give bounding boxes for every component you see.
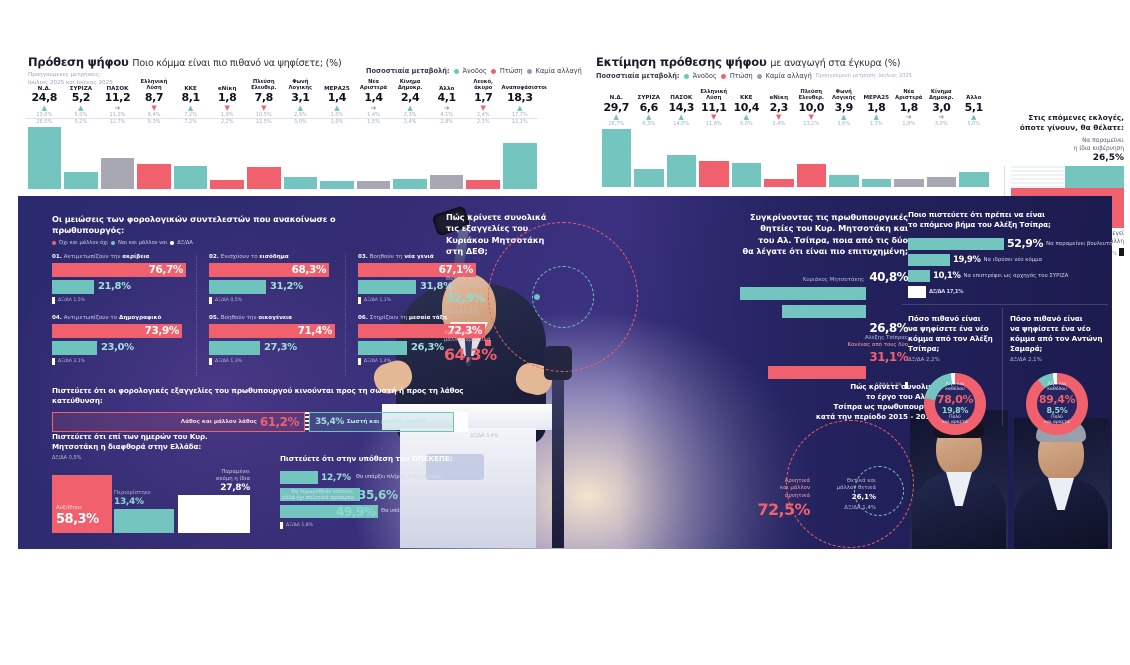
tax-no-value: 71,4%: [298, 325, 332, 337]
bar-column: ΚΚΕ10,4▲9,0%: [730, 129, 763, 187]
prev-value-2: 9,3%: [136, 119, 173, 126]
donut-bottom-value: 8,5%: [1047, 406, 1068, 415]
bar-caption: Νέα Αριστερά1,4➜1,4%1,5%: [355, 80, 392, 127]
next-step-bar: ΔΞ/ΔΑ 17,1%: [908, 286, 926, 298]
next-step-block: Ποιο πιστεύετε ότι πρέπει να είναι το επ…: [908, 210, 1112, 302]
next-step-bar: 52,9%Να παραμείνει βουλευτής: [908, 238, 1004, 250]
tax-no-row: 73,9%: [52, 324, 186, 338]
bar-column: Νέα Αριστερά1,8➜1,8%: [893, 129, 926, 187]
corruption-question-text: Πιστεύετε ότι επί των ημερών του Κυρ. Μη…: [52, 432, 267, 452]
bar-column: eNίκη1,8▼1,9%2,2%: [209, 127, 246, 189]
party-bar: [503, 143, 537, 189]
bar-column: ΣΥΡΙΖΑ6,6▲6,3%: [633, 129, 666, 187]
bar-column: Νέα Αριστερά1,4➜1,4%1,5%: [355, 127, 392, 189]
dk-swatch: [358, 297, 361, 304]
tax-item-title: 01. Αντιμετωπίζουν την ακρίβεια: [52, 254, 186, 260]
compare-block: Συγκρίνοντας τις πρωθυπουργικές θητείες …: [708, 212, 908, 389]
prev-value-2: 2,8%: [428, 119, 465, 126]
bar-column: ΜΕΡΑ251,8▲1,3%: [860, 129, 893, 187]
prev-value-1: 14,0%: [665, 121, 698, 128]
new-party-tsipras-block: Πόσο πιθανό είναι να ψηφίσετε ένα νέο κό…: [908, 314, 1002, 435]
trend-up-icon: ▲: [282, 105, 319, 112]
corruption-bar-label: Αυξήθηκε: [56, 505, 99, 512]
party-name: Νέα Αριστερά: [893, 90, 926, 102]
new-party-samaras-question-text: Πόσο πιθανό είναι να ψηφίσετε ένα νέο κό…: [1010, 314, 1104, 354]
deth-negative-group: Αρνητικά και μάλλον αρνητικά 64,3%: [444, 330, 514, 364]
party-bar: [247, 167, 281, 189]
trend-up-icon: ▲: [958, 114, 991, 121]
corruption-dk: ΔΞ/ΔΑ 0,5%: [52, 455, 267, 461]
opekepe-bar-labels: Θα τιμωρηθούν κάποιοι, αλλά όχι πολιτικά…: [276, 484, 354, 503]
trend-up-icon: ▲: [633, 114, 666, 121]
opekepe-block: Πιστεύετε ότι στην υπόθεση του ΟΠΕΚΕΠΕ: …: [280, 454, 500, 529]
tax-question-text: Οι μειώσεις των φορολογικών συντελεστών …: [52, 214, 402, 237]
donut-center: Λίγο και καθόλου 78,0% 19,8% Πολύ και αρ…: [935, 384, 975, 424]
prev-value-1: 2,9%: [282, 112, 319, 120]
bar-caption: Άλλο5,1▲5,0%: [958, 95, 991, 129]
party-value: 4,1: [428, 92, 465, 105]
bar-column: ΠΑΣΟΚ14,3▲14,0%: [665, 129, 698, 187]
tax-yes-bar: [209, 280, 266, 294]
prev-value-1: 1,4%: [355, 112, 392, 120]
party-value: 24,8: [26, 92, 63, 105]
bar-caption: ΚΚΕ8,1▲7,2%7,2%: [172, 86, 209, 127]
legend-down-label: Πτώση: [500, 67, 523, 75]
vote-estimate-bar-chart: Ν.Δ.29,7▲28,7%ΣΥΡΙΖΑ6,6▲6,3%ΠΑΣΟΚ14,3▲14…: [600, 129, 990, 187]
opekepe-question-text: Πιστεύετε ότι στην υπόθεση του ΟΠΕΚΕΠΕ:: [280, 454, 500, 464]
top-charts-band: Πρόθεση ψήφου Ποιο κόμμα είναι πιο πιθαν…: [0, 55, 1130, 195]
bar-column: Ν.Δ.24,8▲23,0%26,0%: [26, 127, 63, 189]
opekepe-bar-chart: 12,7% Θα υπάρξει πλήρης διαλεύκανσηΘα τι…: [280, 471, 500, 518]
corruption-bar-chart: Αυξήθηκε58,3%Περιορίστηκε13,4%Παραμένει …: [52, 465, 267, 533]
tax-item: 04. Αντιμετωπίζουν το Δημογραφικό73,9%23…: [52, 315, 197, 376]
bar-column: Πλεύση Ελευθερ.7,8▼10,5%12,5%: [245, 127, 282, 189]
prev-value-1: 11,8%: [698, 121, 731, 128]
speaker-stand-pole: [552, 364, 564, 548]
same-government-label: Να παραμείνει η ίδια κυβέρνηση: [1004, 138, 1124, 153]
opekepe-bar-labels: Θα υπάρξει συγκάλυψη: [381, 505, 441, 518]
tsipras-work-negative-value: 72,5%: [752, 500, 810, 519]
opekepe-value: 35,6%: [358, 488, 398, 501]
title-text: Πρόθεση ψήφου: [28, 55, 129, 69]
corruption-bar-label: Παραμένει ακόμη η ίδια: [178, 469, 250, 483]
party-bar: [320, 181, 354, 189]
next-step-value: ΔΞ/ΔΑ 17,1%: [929, 289, 963, 295]
trend-up-icon: ▲: [392, 105, 429, 112]
party-value: 1,4: [355, 92, 392, 105]
prev-value-1: 13,1%: [795, 121, 828, 128]
legend-none-icon: [527, 69, 532, 74]
bar-column: Φωνή Λογικής3,1▲2,9%3,0%: [282, 127, 319, 189]
dk-swatch: [1119, 248, 1124, 256]
prev-value-1: 2,3%: [392, 112, 429, 120]
prev-value-2: 7,2%: [172, 119, 209, 126]
bar-caption: Νέα Αριστερά1,8➜1,8%: [893, 90, 926, 129]
prev-value-1: 5,0%: [958, 121, 991, 128]
tax-yes-value: 27,3%: [260, 341, 297, 355]
donut-bottom-label: Πολύ και αρκετά: [942, 415, 968, 426]
trend-no-icon: ➜: [355, 105, 392, 112]
bar-column: Φωνή Λογικής3,9▲3,6%: [828, 129, 861, 187]
bar-column: eNίκη2,3▼2,4%: [763, 129, 796, 187]
tsipras-work-positive-group: Θετικά και μάλλον θετικά 26,1% ΔΞ/ΔΑ 1,4…: [814, 478, 876, 512]
deth-dk: ΔΞ/ΔΑ 2,8%: [446, 309, 508, 316]
tax-no-value: 73,9%: [145, 325, 179, 337]
trend-dn-icon: ▼: [795, 114, 828, 121]
prev-value-1: 7,2%: [172, 112, 209, 120]
party-bar: [829, 175, 859, 187]
compare-a-bar: [740, 287, 866, 300]
prev-value-2: 1,0%: [319, 119, 356, 126]
prev-value-2: 5,2%: [63, 119, 100, 126]
bar-column: Κίνημα Δημοκρ.2,4▲2,3%2,4%: [392, 127, 429, 189]
prev-value-1: 4,1%: [428, 112, 465, 120]
direction-dk-segment: [454, 412, 468, 432]
bar-caption: Αναποφάσιστοι18,3▲17,7%12,1%: [502, 86, 539, 127]
trend-up-icon: ▲: [600, 114, 633, 121]
dk-swatch: [52, 297, 55, 304]
tax-yes-value: 31,2%: [266, 280, 303, 294]
trend-dn-icon: ▼: [245, 105, 282, 112]
opekepe-label: Θα υπάρξει συγκάλυψη: [381, 508, 441, 515]
wrong-value: 61,2%: [260, 415, 299, 429]
legend-dk-label: ΔΞ/ΔΑ: [177, 240, 193, 246]
prev-measurement-note: Προηγούμενη μέτρηση: Ιούλιος 2025: [816, 73, 912, 79]
party-value: 11,2: [99, 92, 136, 105]
bar-column: ΠΑΣΟΚ11,2➜11,2%12,7%: [99, 127, 136, 189]
prev-value-1: 3,0%: [925, 121, 958, 128]
infographic-page: Πρόθεση ψήφου Ποιο κόμμα είναι πιο πιθαν…: [0, 0, 1130, 665]
deth-positive-label: Θετικά και μάλλον θετικά: [446, 276, 508, 291]
new-party-samaras-donut: Λίγο και καθόλου 89,4% 8,5% Πολύ και αρκ…: [1026, 373, 1088, 435]
direction-bar: Λάθος και μάλλον λάθος 61,2% 35,4% Σωστή…: [52, 412, 472, 432]
tax-no-value: 76,7%: [149, 264, 183, 276]
corruption-bar-label-group: Παραμένει ακόμη η ίδια27,8%: [178, 469, 250, 493]
party-bar: [667, 155, 697, 187]
tax-no-bar: 71,4%: [209, 324, 335, 338]
prev-value-2: 12,5%: [245, 119, 282, 126]
party-value: 8,1: [172, 92, 209, 105]
party-bar: [634, 169, 664, 187]
trend-up-icon: ▲: [502, 105, 539, 112]
party-bar: [64, 172, 98, 189]
tax-dk: ΔΞ/ΔΑ 3,1%: [52, 358, 186, 365]
bar-caption: eNίκη2,3▼2,4%: [763, 95, 796, 129]
tax-dk: ΔΞ/ΔΑ 1,5%: [52, 297, 186, 304]
tax-question-block: Οι μειώσεις των φορολογικών συντελεστών …: [52, 214, 402, 376]
bar-caption: Κίνημα Δημοκρ.2,4▲2,3%2,4%: [392, 80, 429, 127]
bar-column: Άλλο4,1➜4,1%2,8%: [428, 127, 465, 189]
party-value: 2,4: [392, 92, 429, 105]
same-government-value: 26,5%: [1004, 153, 1124, 163]
donut-bottom-label: Πολύ και αρκετά: [1044, 415, 1070, 426]
legend-down-icon: [721, 74, 726, 79]
prev-value-1: 23,0%: [26, 112, 63, 120]
tax-yes-bar: [52, 341, 97, 355]
legend-none-label: Καμία αλλαγή: [766, 72, 812, 80]
prev-value-1: 10,5%: [245, 112, 282, 120]
compare-a-row: Κυριάκος Μητσοτάκης 40,8%: [708, 266, 908, 285]
trend-up-icon: ▲: [172, 105, 209, 112]
subtitle-text: Ποιο κόμμα είναι πιο πιθανό να ψηφίσετε;…: [132, 58, 341, 69]
compare-b-row: 26,8% Αλέξης Τσίπρας Κανένας από τους δύ…: [708, 321, 908, 364]
right-value: 35,4%: [315, 417, 344, 427]
deth-positive-value: 32,9%: [446, 291, 508, 305]
trend-no-icon: ➜: [99, 105, 136, 112]
bar-caption: Φωνή Λογικής3,1▲2,9%3,0%: [282, 80, 319, 127]
dk-swatch: [280, 522, 283, 529]
corruption-bar: Παραμένει ακόμη η ίδια27,8%: [178, 495, 250, 533]
bar-caption: Φωνή Λογικής3,9▲3,6%: [828, 90, 861, 129]
next-step-label: Να ιδρύσει νέο κόμμα: [984, 257, 1043, 263]
trend-no-icon: ➜: [428, 105, 465, 112]
opekepe-value: 49,9%: [336, 505, 376, 518]
party-name: Φωνή Λογικής: [828, 90, 861, 102]
compare-a-value: 40,8%: [869, 270, 908, 284]
tax-item-title: 05. Βοηθούν την οικογένεια: [209, 315, 335, 321]
bar-caption: Ελληνική Λύση11,1▼11,8%: [698, 90, 731, 129]
party-value: 8,7: [136, 92, 173, 105]
tax-yes-value: 26,3%: [407, 341, 444, 355]
tax-legend: Όχι και μάλλον όχι Ναι και μάλλον ναι ΔΞ…: [52, 240, 402, 246]
next-step-bar-labels: 19,9%Να ιδρύσει νέο κόμμα: [953, 253, 1042, 266]
opekepe-bar: Θα τιμωρηθούν κάποιοι, αλλά όχι πολιτικά…: [280, 488, 360, 501]
tax-no-row: 71,4%: [209, 324, 335, 338]
legend-yes-label: Ναι και μάλλον ναι: [118, 240, 167, 246]
dk-swatch: [209, 297, 212, 304]
new-party-samaras-block: Πόσο πιθανό είναι να ψηφίσετε ένα νέο κό…: [1010, 314, 1104, 435]
party-value: 1,7: [465, 92, 502, 105]
right-column-divider: [902, 304, 1108, 305]
trend-no-icon: ➜: [893, 114, 926, 121]
next-step-bar: 10,1%Να επιστρέψει ως αρχηγός του ΣΥΡΙΖΑ: [908, 270, 930, 282]
next-step-label: Να επιστρέψει ως αρχηγός του ΣΥΡΙΖΑ: [964, 273, 1069, 279]
vote-intention-title: Πρόθεση ψήφου Ποιο κόμμα είναι πιο πιθαν…: [28, 55, 342, 69]
party-bar: [393, 179, 427, 189]
right-label: Σωστή και μάλλον σωστή: [347, 419, 427, 425]
bar-caption: ΠΑΣΟΚ14,3▲14,0%: [665, 95, 698, 129]
bar-caption: ΣΥΡΙΖΑ5,2▲5,0%5,2%: [63, 86, 100, 127]
bar-caption: Πλεύση Ελευθερ.7,8▼10,5%12,5%: [245, 80, 282, 127]
prev-value-2: 2,2%: [209, 119, 246, 126]
bar-caption: ΚΚΕ10,4▲9,0%: [730, 95, 763, 129]
samaras-photo: [1014, 418, 1110, 549]
compare-question-text: Συγκρίνοντας τις πρωθυπουργικές θητείες …: [708, 212, 908, 258]
trend-up-icon: ▲: [63, 105, 100, 112]
bar-caption: Πλεύση Ελευθερ.10,0▼13,1%: [795, 90, 828, 129]
legend-up-icon: [684, 74, 689, 79]
corruption-bar-value: 58,3%: [56, 512, 99, 527]
deth-inner-ring: [532, 266, 594, 328]
next-step-value: 19,9%: [953, 255, 981, 265]
donut-bottom-value: 19,8%: [942, 406, 968, 415]
donut-center: Λίγο και καθόλου 89,4% 8,5% Πολύ και αρκ…: [1037, 384, 1077, 424]
tax-yes-bar: [52, 280, 94, 294]
tax-yes-row: 31,2%: [209, 280, 335, 294]
compare-b-bar: [782, 305, 866, 318]
prev-value-1: 9,0%: [730, 121, 763, 128]
tax-yes-bar: [358, 280, 416, 294]
compare-c-value: 31,1%: [708, 350, 908, 364]
opekepe-dk: ΔΞ/ΔΑ 1,8%: [280, 522, 500, 529]
trend-dn-icon: ▼: [465, 105, 502, 112]
bar-caption: Ν.Δ.29,7▲28,7%: [600, 95, 633, 129]
bar-column: Ελληνική Λύση11,1▼11,8%: [698, 129, 731, 187]
prev-value-2: 12,1%: [502, 119, 539, 126]
party-bar: [430, 175, 464, 189]
vote-estimate-header: Εκτίμηση πρόθεσης ψήφου με αναγωγή στα έ…: [596, 55, 912, 80]
bar-column: ΚΚΕ8,1▲7,2%7,2%: [172, 127, 209, 189]
trend-dn-icon: ▼: [209, 105, 246, 112]
party-bar: [284, 177, 318, 189]
title-text: Εκτίμηση πρόθεσης ψήφου: [596, 55, 767, 69]
party-value: 3,1: [282, 92, 319, 105]
dk-swatch: [209, 358, 212, 365]
corruption-bar: Αυξήθηκε58,3%: [52, 475, 112, 533]
trend-up-icon: ▲: [730, 114, 763, 121]
right-column-vertical-divider: [1002, 308, 1003, 426]
tax-no-value: 68,3%: [292, 264, 326, 276]
trend-no-icon: ➜: [925, 114, 958, 121]
opekepe-bar: 12,7% Θα υπάρξει πλήρης διαλεύκανση: [280, 471, 318, 484]
tax-no-bar: 76,7%: [52, 263, 186, 277]
new-party-tsipras-donut: Λίγο και καθόλου 78,0% 19,8% Πολύ και αρ…: [924, 373, 986, 435]
party-value: 18,3: [502, 92, 539, 105]
legend-up-icon: [454, 69, 459, 74]
party-bar: [764, 179, 794, 187]
compare-c-bar: [768, 366, 866, 379]
next-step-question-text: Ποιο πιστεύετε ότι πρέπει να είναι το επ…: [908, 210, 1112, 230]
trend-dn-icon: ▼: [698, 114, 731, 121]
legend-none-icon: [757, 74, 762, 79]
prev-value-1: 9,4%: [136, 112, 173, 120]
trend-dn-icon: ▼: [136, 105, 173, 112]
tax-yes-row: 21,8%: [52, 280, 186, 294]
party-bar: [210, 180, 244, 189]
prev-value-2: 2,4%: [392, 119, 429, 126]
tax-yes-row: 23,0%: [52, 341, 186, 355]
tax-dk: ΔΞ/ΔΑ 1,3%: [209, 358, 335, 365]
tax-yes-bar: [358, 341, 407, 355]
party-bar: [959, 172, 989, 187]
tsipras-work-negative-label: Αρνητικά και μάλλον αρνητικά: [752, 478, 810, 500]
corruption-bar-label-group: Περιορίστηκε13,4%: [114, 490, 174, 507]
corruption-bar-value: 27,8%: [178, 483, 250, 493]
donut-top-value: 78,0%: [937, 393, 973, 406]
deth-positive-marker: [534, 294, 540, 300]
trend-up-icon: ▲: [665, 114, 698, 121]
bar-column: Κίνημα Δημοκρ.3,0➜3,0%: [925, 129, 958, 187]
prev-value-1: 5,0%: [63, 112, 100, 120]
vote-estimate-title: Εκτίμηση πρόθεσης ψήφου με αναγωγή στα έ…: [596, 55, 912, 69]
donut-top-value: 89,4%: [1039, 393, 1075, 406]
opekepe-label: Θα τιμωρηθούν κάποιοι, αλλά όχι πολιτικά…: [282, 489, 354, 502]
prev-value-1: 1,3%: [860, 121, 893, 128]
bar-caption: ΜΕΡΑ251,4▲1,0%1,0%: [319, 86, 356, 127]
legend-up-label: Άνοδος: [463, 67, 487, 75]
compare-a-label: Κυριάκος Μητσοτάκης: [803, 277, 864, 283]
bar-hatch-overlay: [1011, 166, 1065, 188]
party-value: 1,4: [319, 92, 356, 105]
corruption-bar-label-group: Αυξήθηκε58,3%: [56, 505, 99, 527]
prev-value-1: 28,7%: [600, 121, 633, 128]
bar-caption: Άλλο4,1➜4,1%2,8%: [428, 86, 465, 127]
tax-items-grid: 01. Αντιμετωπίζουν την ακρίβεια76,7%21,8…: [52, 254, 402, 376]
bar-caption: Κίνημα Δημοκρ.3,0➜3,0%: [925, 90, 958, 129]
tax-no-bar: 68,3%: [209, 263, 329, 277]
next-elections-title: Στις επόμενες εκλογές, όποτε γίνουν, θα …: [1004, 113, 1124, 133]
opekepe-value: 12,7%: [321, 473, 351, 483]
deth-negative-label: Αρνητικά και μάλλον αρνητικά: [444, 330, 514, 345]
prev-value-2: 1,5%: [355, 119, 392, 126]
party-value: 7,8: [245, 92, 282, 105]
party-bar: [862, 179, 892, 187]
deth-block: Πώς κρίνετε συνολικά τις εξαγγελίες του …: [446, 212, 646, 380]
bar-column: Αναποφάσιστοι18,3▲17,7%12,1%: [502, 127, 539, 189]
party-name: Κίνημα Δημοκρ.: [925, 90, 958, 102]
party-bar: [927, 177, 957, 187]
tsipras-work-positive-value: 26,1%: [814, 493, 876, 502]
party-name: Ελληνική Λύση: [698, 90, 731, 102]
next-step-value: 52,9%: [1007, 237, 1043, 250]
tsipras-work-dk: ΔΞ/ΔΑ 1,4%: [814, 505, 876, 512]
next-step-bar-labels: ΔΞ/ΔΑ 17,1%: [929, 285, 963, 298]
prev-value-1: 1,8%: [893, 121, 926, 128]
direction-right-segment: 35,4% Σωστή και μάλλον σωστή: [309, 412, 454, 432]
legend-label: Ποσοστιαία μεταβολή:: [366, 67, 450, 75]
next-step-bar: 19,9%Να ιδρύσει νέο κόμμα: [908, 254, 950, 266]
party-bar: [101, 158, 135, 189]
tsipras-work-positive-label: Θετικά και μάλλον θετικά: [814, 478, 876, 493]
bar-column: ΜΕΡΑ251,4▲1,0%1,0%: [319, 127, 356, 189]
next-step-bar-labels: 10,1%Να επιστρέψει ως αρχηγός του ΣΥΡΙΖΑ: [933, 269, 1068, 282]
party-value: 5,2: [63, 92, 100, 105]
deth-negative-value: 64,3%: [444, 345, 514, 364]
prev-value-1: 3,6%: [828, 121, 861, 128]
next-step-label: Να παραμείνει βουλευτής: [1046, 241, 1112, 247]
legend-label: Ποσοστιαία μεταβολή:: [596, 72, 680, 80]
trend-up-icon: ▲: [860, 114, 893, 121]
compare-b-value: 26,8%: [708, 321, 908, 335]
dk-swatch: [358, 358, 361, 365]
party-bar: [602, 129, 632, 187]
legend-down-icon: [491, 69, 496, 74]
party-value: 1,8: [209, 92, 246, 105]
prev-value-1: 2,4%: [763, 121, 796, 128]
trend-up-icon: ▲: [26, 105, 63, 112]
tax-item-title: 04. Αντιμετωπίζουν το Δημογραφικό: [52, 315, 186, 321]
corruption-bar-value: 13,4%: [114, 497, 174, 507]
bar-column: Λευκό, άκυρο1,7▼2,4%2,1%: [465, 127, 502, 189]
prev-value-2: 2,1%: [465, 119, 502, 126]
tax-item-title: 02. Ενισχύουν το εισόδημα: [209, 254, 335, 260]
bar-caption: ΣΥΡΙΖΑ6,6▲6,3%: [633, 95, 666, 129]
tax-item: 05. Βοηθούν την οικογένεια71,4%27,3%ΔΞ/Δ…: [209, 315, 346, 376]
trend-up-icon: ▲: [319, 105, 356, 112]
legend-no-label: Όχι και μάλλον όχι: [59, 240, 108, 246]
prev-value-1: 11,2%: [99, 112, 136, 120]
same-government-bar: [1011, 166, 1124, 188]
legend-dk-icon: [170, 241, 174, 245]
tax-no-row: 68,3%: [209, 263, 335, 277]
party-bar: [699, 161, 729, 187]
deth-positive-group: Θετικά και μάλλον θετικά 32,9% ΔΞ/ΔΑ 2,8…: [446, 276, 508, 316]
bar-caption: Λευκό, άκυρο1,7▼2,4%2,1%: [465, 80, 502, 127]
party-bar: [797, 164, 827, 187]
next-step-value: 10,1%: [933, 271, 961, 281]
party-bar: [894, 179, 924, 187]
new-party-tsipras-dk: ΔΞ/ΔΑ 2,2%: [908, 357, 1002, 364]
